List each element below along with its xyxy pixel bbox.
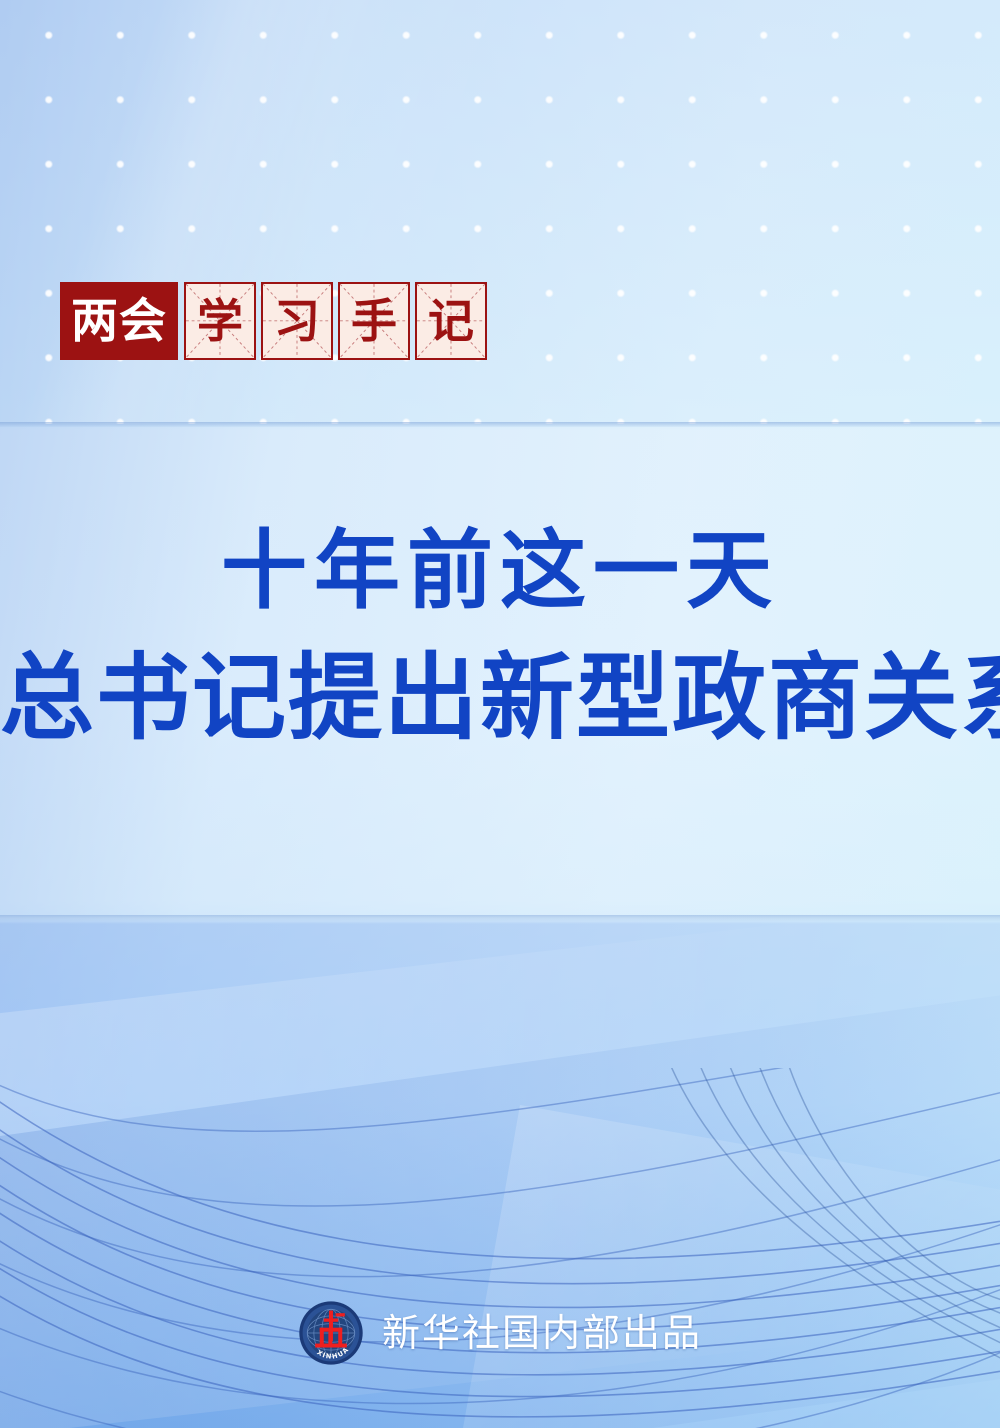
badge-cell: 手 (338, 282, 410, 360)
title-line-secondary: 总书记提出新型政商关系 (0, 643, 1000, 754)
title-line-primary: 十年前这一天 (0, 520, 1000, 621)
background-seam-upper (0, 422, 1000, 427)
badge-cell-char: 记 (428, 298, 474, 344)
xinhua-news-agency-logo-icon: XINHUA (298, 1300, 364, 1366)
badge-cell-char: 学 (197, 298, 243, 344)
badge-cell: 学 (184, 282, 256, 360)
background-top-facet (0, 0, 1000, 424)
poster-canvas: 两会 学 (0, 0, 1000, 1428)
badge-grid-cells: 学 习 (184, 282, 487, 360)
background-wave-lines (0, 1068, 1000, 1428)
footer-credit-row: XINHUA 新华社国内部出品 (0, 1300, 1000, 1366)
badge-cell: 记 (415, 282, 487, 360)
badge-cell-char: 手 (351, 298, 397, 344)
badge-solid-label: 两会 (60, 282, 178, 360)
header-badge: 两会 学 (60, 282, 487, 360)
page-title: 十年前这一天 总书记提出新型政商关系 (0, 520, 1000, 754)
badge-cell-char: 习 (274, 298, 320, 344)
footer-credit-text: 新华社国内部出品 (382, 1314, 702, 1352)
badge-cell: 习 (261, 282, 333, 360)
